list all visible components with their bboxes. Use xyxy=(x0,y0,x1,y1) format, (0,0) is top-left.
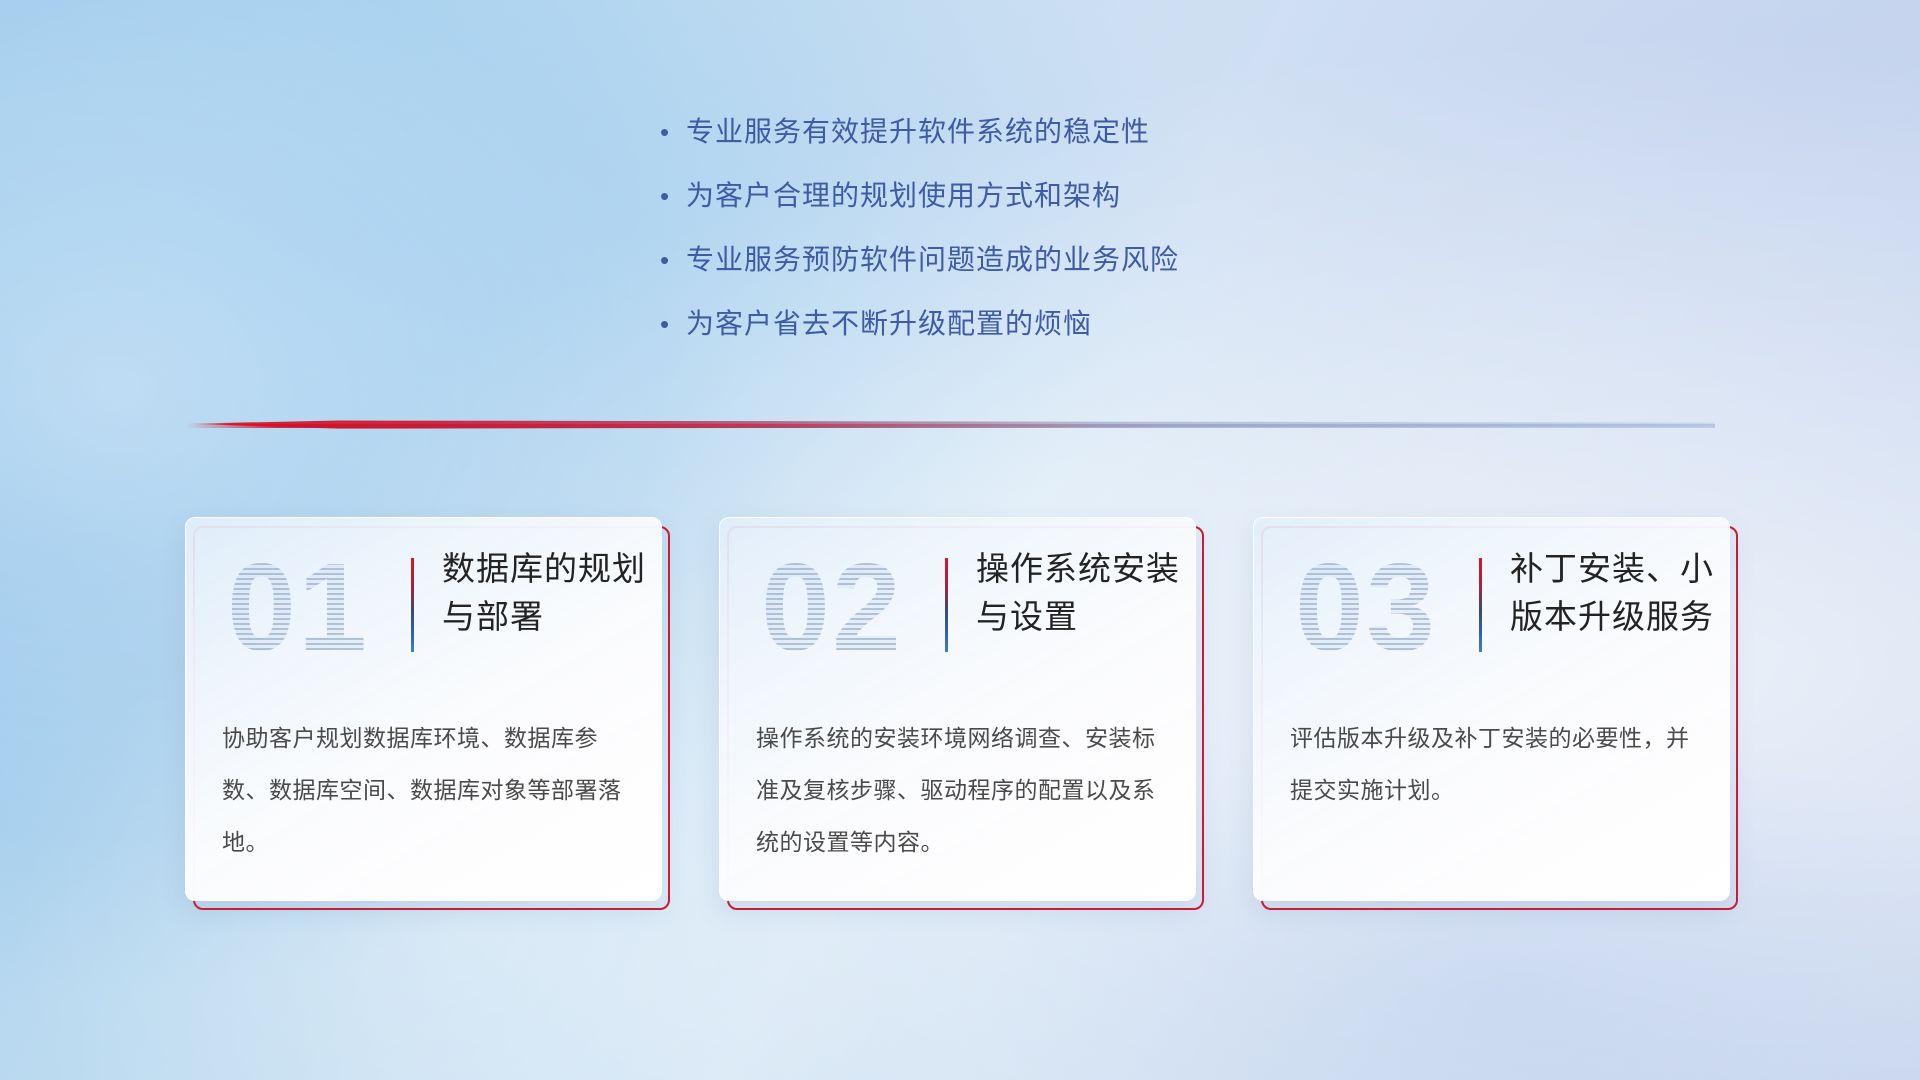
card-title: 操作系统安装与设置 xyxy=(976,545,1182,641)
card-header: 01 01 数据库的规划与部署 xyxy=(186,518,661,700)
bullet-marker-icon: • xyxy=(660,247,686,273)
bullet-marker-icon: • xyxy=(660,311,686,337)
service-card[interactable]: 02 02 操作系统安装与设置 操作系统的安装环境网络调查、安装标准及复核步骤、… xyxy=(719,517,1196,909)
card-description: 评估版本升级及补丁安装的必要性，并提交实施计划。 xyxy=(1290,712,1702,816)
card-number-striped: 01 xyxy=(208,538,388,678)
card-accent-bar xyxy=(411,558,414,652)
card-accent-bar xyxy=(945,558,948,652)
card-panel: 02 02 操作系统安装与设置 操作系统的安装环境网络调查、安装标准及复核步骤、… xyxy=(719,517,1196,901)
bullet-text: 专业服务预防软件问题造成的业务风险 xyxy=(686,238,1179,278)
benefits-bullet-list: • 专业服务有效提升软件系统的稳定性 • 为客户合理的规划使用方式和架构 • 专… xyxy=(660,110,1560,366)
card-panel: 01 01 数据库的规划与部署 协助客户规划数据库环境、数据库参数、数据库空间、… xyxy=(185,517,662,901)
card-title: 数据库的规划与部署 xyxy=(442,545,648,641)
bullet-marker-icon: • xyxy=(660,183,686,209)
bullet-text: 专业服务有效提升软件系统的稳定性 xyxy=(686,110,1150,150)
card-number-striped: 02 xyxy=(742,538,922,678)
card-description: 操作系统的安装环境网络调查、安装标准及复核步骤、驱动程序的配置以及系统的设置等内… xyxy=(756,712,1168,868)
divider-core-line xyxy=(185,424,1715,428)
card-header: 03 03 补丁安装、小版本升级服务 xyxy=(1254,518,1729,700)
card-number-striped: 03 xyxy=(1276,538,1456,678)
service-card[interactable]: 01 01 数据库的规划与部署 协助客户规划数据库环境、数据库参数、数据库空间、… xyxy=(185,517,662,909)
list-item: • 专业服务预防软件问题造成的业务风险 xyxy=(660,238,1560,302)
section-divider xyxy=(185,418,1715,432)
card-title: 补丁安装、小版本升级服务 xyxy=(1510,545,1716,641)
bullet-text: 为客户省去不断升级配置的烦恼 xyxy=(686,302,1092,342)
service-card[interactable]: 03 03 补丁安装、小版本升级服务 评估版本升级及补丁安装的必要性，并提交实施… xyxy=(1253,517,1730,909)
list-item: • 专业服务有效提升软件系统的稳定性 xyxy=(660,110,1560,174)
slide-root: • 专业服务有效提升软件系统的稳定性 • 为客户合理的规划使用方式和架构 • 专… xyxy=(0,0,1920,1080)
card-description: 协助客户规划数据库环境、数据库参数、数据库空间、数据库对象等部署落地。 xyxy=(222,712,634,868)
card-accent-bar xyxy=(1479,558,1482,652)
bullet-text: 为客户合理的规划使用方式和架构 xyxy=(686,174,1121,214)
bullet-marker-icon: • xyxy=(660,119,686,145)
list-item: • 为客户合理的规划使用方式和架构 xyxy=(660,174,1560,238)
card-panel: 03 03 补丁安装、小版本升级服务 评估版本升级及补丁安装的必要性，并提交实施… xyxy=(1253,517,1730,901)
list-item: • 为客户省去不断升级配置的烦恼 xyxy=(660,302,1560,366)
service-card-group: 01 01 数据库的规划与部署 协助客户规划数据库环境、数据库参数、数据库空间、… xyxy=(185,517,1730,917)
card-header: 02 02 操作系统安装与设置 xyxy=(720,518,1195,700)
